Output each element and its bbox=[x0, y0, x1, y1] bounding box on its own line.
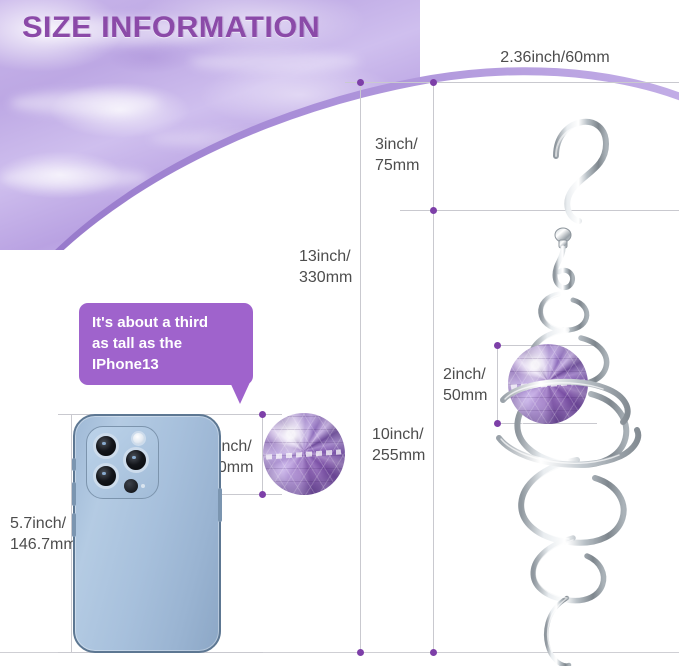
iphone-13-illustration bbox=[73, 414, 221, 653]
guide-dot bbox=[430, 649, 437, 656]
camera-lens-icon bbox=[93, 433, 119, 459]
phone-volume-up-button bbox=[72, 482, 76, 506]
dim-label-spiral-height: 10inch/ 255mm bbox=[372, 424, 434, 466]
guide-dot bbox=[259, 491, 266, 498]
callout-bubble-tail bbox=[229, 380, 251, 404]
comparison-callout-text: It's about a third as tall as the IPhone… bbox=[92, 312, 241, 375]
comparison-callout-bubble: It's about a third as tall as the IPhone… bbox=[79, 303, 253, 385]
camera-lens-icon bbox=[93, 463, 119, 489]
lidar-sensor-icon bbox=[124, 479, 138, 493]
guide-dot bbox=[430, 79, 437, 86]
guide-dot bbox=[259, 411, 266, 418]
page-title: SIZE INFORMATION bbox=[22, 11, 320, 45]
dim-label-hook-height: 3inch/ 75mm bbox=[375, 134, 435, 176]
phone-volume-down-button bbox=[72, 513, 76, 537]
camera-flash-icon bbox=[131, 431, 146, 446]
guide-vline-total-height bbox=[360, 82, 361, 652]
guide-line-left-crystal-bottom bbox=[222, 494, 282, 495]
water-ripple-streak bbox=[190, 52, 360, 72]
camera-lens-icon bbox=[123, 447, 149, 473]
crystal-ball-standalone bbox=[263, 413, 345, 495]
spiral-front-arcs bbox=[455, 82, 679, 666]
water-ripple-streak bbox=[120, 206, 310, 224]
dim-label-total-height: 13inch/ 330mm bbox=[299, 246, 361, 288]
phone-power-button bbox=[218, 488, 222, 522]
guide-dot bbox=[430, 207, 437, 214]
water-ripple-streak bbox=[150, 130, 360, 148]
phone-mute-switch bbox=[72, 458, 76, 471]
guide-dot bbox=[357, 79, 364, 86]
water-ripple-streak bbox=[10, 92, 160, 114]
guide-line-left-crystal-top bbox=[222, 414, 282, 415]
size-information-infographic: SIZE INFORMATION 2.36inch/60mm 3inch/ 75… bbox=[0, 0, 679, 666]
camera-bump bbox=[86, 426, 159, 499]
microphone-dot-icon bbox=[141, 484, 145, 488]
guide-dot bbox=[357, 649, 364, 656]
water-ripple-streak bbox=[0, 168, 150, 188]
dim-label-spinner-width: 2.36inch/60mm bbox=[470, 47, 640, 68]
